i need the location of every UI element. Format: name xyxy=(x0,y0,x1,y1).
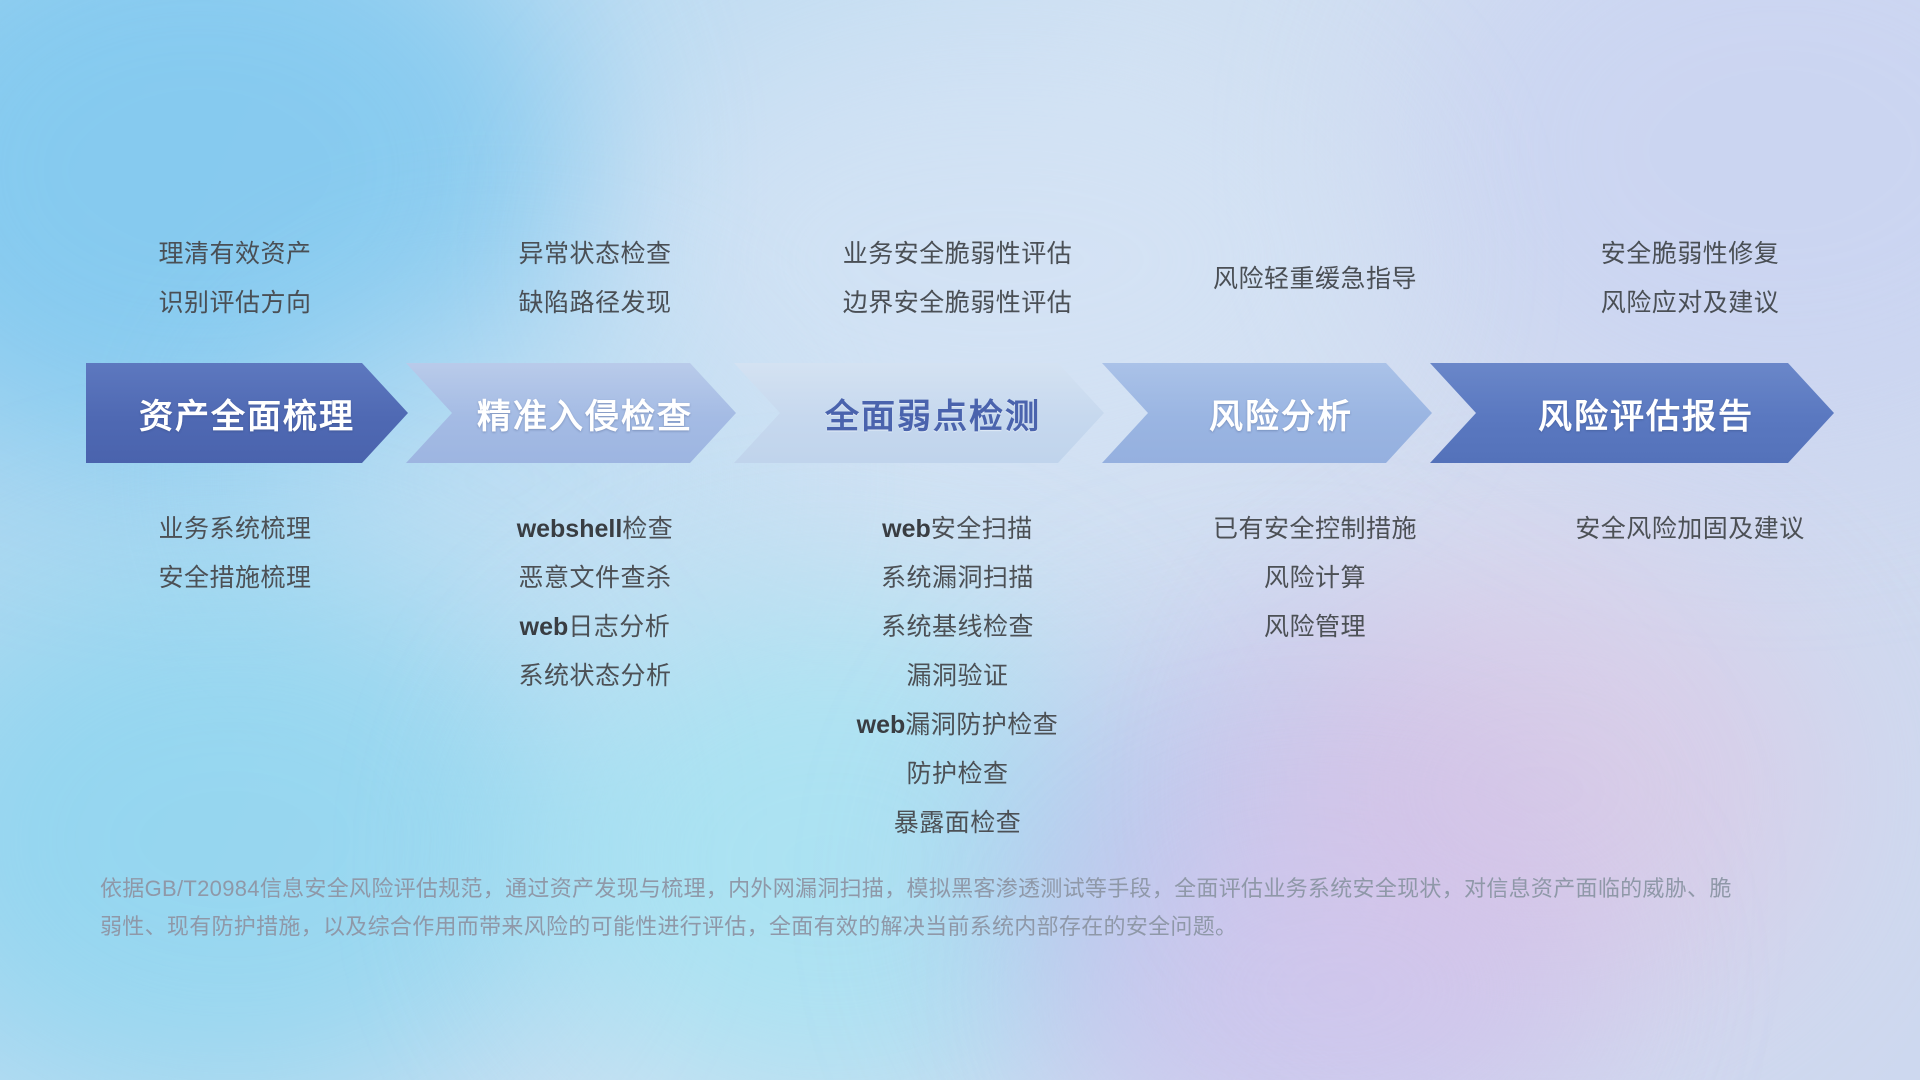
stage-5-output-1: 安全风险加固及建议 xyxy=(1490,505,1890,554)
stage-3-output-7: 暴露面检查 xyxy=(770,799,1145,848)
stage-3-output-1: web安全扫描 xyxy=(770,505,1145,554)
stage-3-output-4: 漏洞验证 xyxy=(770,652,1145,701)
stage-3-output-6: 防护检查 xyxy=(770,750,1145,799)
stage-3-input-2: 边界安全脆弱性评估 xyxy=(770,279,1145,328)
stage-4-input-1: 风险轻重缓急指导 xyxy=(1145,230,1485,328)
stage-2-output-2: 恶意文件查杀 xyxy=(420,554,770,603)
footer-description: 依据GB/T20984信息安全风险评估规范，通过资产发现与梳理，内外网漏洞扫描，… xyxy=(100,870,1740,946)
chevron-stage-1-label: 资产全面梳理 xyxy=(139,389,355,438)
process-diagram: 理清有效资产 识别评估方向 业务系统梳理 安全措施梳理 异常状态检查 缺陷路径发… xyxy=(0,0,1920,1080)
stage-4-output-1: 已有安全控制措施 xyxy=(1145,505,1485,554)
stage-2-outputs: webshell检查 恶意文件查杀 web日志分析 系统状态分析 xyxy=(420,505,770,701)
chevron-stage-5[interactable]: 风险评估报告 xyxy=(1430,363,1834,463)
chevron-stage-3-label: 全面弱点检测 xyxy=(825,389,1041,438)
stage-5-inputs: 安全脆弱性修复 风险应对及建议 xyxy=(1490,230,1890,340)
stage-4-inputs: 风险轻重缓急指导 xyxy=(1145,230,1485,340)
stage-4-output-3: 风险管理 xyxy=(1145,603,1485,652)
stage-1-inputs: 理清有效资产 识别评估方向 xyxy=(60,230,410,340)
stage-3-output-2: 系统漏洞扫描 xyxy=(770,554,1145,603)
stage-1-output-2: 安全措施梳理 xyxy=(60,554,410,603)
stage-3-output-3: 系统基线检查 xyxy=(770,603,1145,652)
chevron-stage-2[interactable]: 精准入侵检查 xyxy=(406,363,736,463)
chevron-stage-4[interactable]: 风险分析 xyxy=(1102,363,1432,463)
chevron-stage-2-label: 精准入侵检查 xyxy=(477,389,693,438)
stage-3-inputs: 业务安全脆弱性评估 边界安全脆弱性评估 xyxy=(770,230,1145,340)
stage-3-output-5: web漏洞防护检查 xyxy=(770,701,1145,750)
chevron-stage-1[interactable]: 资产全面梳理 xyxy=(86,363,408,463)
stage-2-inputs: 异常状态检查 缺陷路径发现 xyxy=(420,230,770,340)
stage-5-outputs: 安全风险加固及建议 xyxy=(1490,505,1890,554)
stage-4-output-2: 风险计算 xyxy=(1145,554,1485,603)
stage-4-outputs: 已有安全控制措施 风险计算 风险管理 xyxy=(1145,505,1485,652)
process-chevron-band: 资产全面梳理 精准入侵检查 全面弱点检测 风险分析 风险评估报告 xyxy=(0,363,1920,463)
chevron-stage-3[interactable]: 全面弱点检测 xyxy=(734,363,1104,463)
chevron-stage-4-label: 风险分析 xyxy=(1209,389,1353,438)
stage-1-input-2: 识别评估方向 xyxy=(60,279,410,328)
slide-canvas: 理清有效资产 识别评估方向 业务系统梳理 安全措施梳理 异常状态检查 缺陷路径发… xyxy=(0,0,1920,1080)
stage-5-input-2: 风险应对及建议 xyxy=(1490,279,1890,328)
stage-2-input-1: 异常状态检查 xyxy=(420,230,770,279)
stage-2-output-1: webshell检查 xyxy=(420,505,770,554)
stage-3-input-1: 业务安全脆弱性评估 xyxy=(770,230,1145,279)
stage-1-outputs: 业务系统梳理 安全措施梳理 xyxy=(60,505,410,603)
stage-1-input-1: 理清有效资产 xyxy=(60,230,410,279)
stage-2-input-2: 缺陷路径发现 xyxy=(420,279,770,328)
stage-2-output-4: 系统状态分析 xyxy=(420,652,770,701)
stage-3-outputs: web安全扫描 系统漏洞扫描 系统基线检查 漏洞验证 web漏洞防护检查 防护检… xyxy=(770,505,1145,848)
stage-5-input-1: 安全脆弱性修复 xyxy=(1490,230,1890,279)
chevron-stage-5-label: 风险评估报告 xyxy=(1538,389,1754,438)
stage-1-output-1: 业务系统梳理 xyxy=(60,505,410,554)
stage-2-output-3: web日志分析 xyxy=(420,603,770,652)
